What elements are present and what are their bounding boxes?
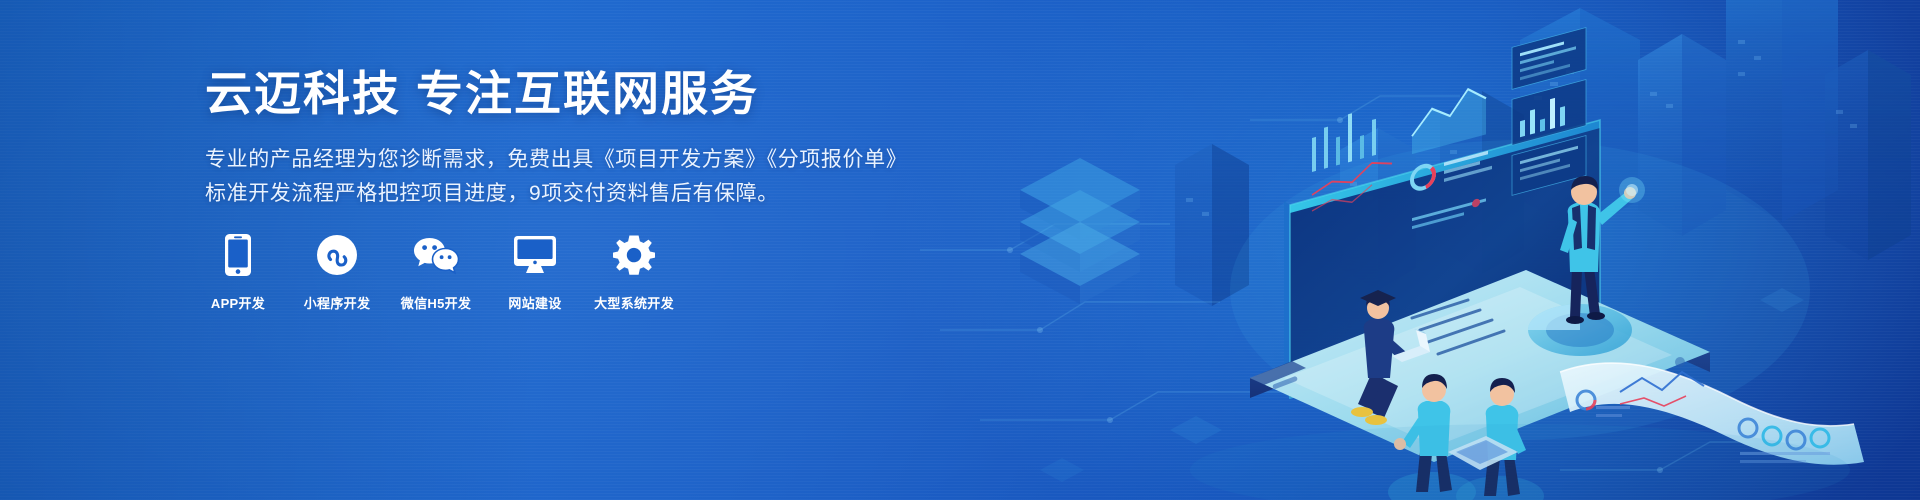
banner-copy: 云迈科技 专注互联网服务 专业的产品经理为您诊断需求，免费出具《项目开发方案》《… — [205, 68, 905, 211]
subtitle-line-1: 专业的产品经理为您诊断需求，免费出具《项目开发方案》《分项报价单》 — [205, 143, 905, 177]
service-item-large-system[interactable]: 大型系统开发 — [601, 232, 667, 312]
service-label: 小程序开发 — [304, 293, 371, 312]
service-label: 网站建设 — [508, 293, 561, 312]
service-label: 大型系统开发 — [594, 293, 674, 312]
banner-headline: 云迈科技 专注互联网服务 — [205, 68, 905, 121]
mobile-phone-icon — [224, 232, 252, 278]
monitor-icon — [513, 232, 557, 278]
service-label: APP开发 — [211, 293, 265, 312]
banner-subtitle: 专业的产品经理为您诊断需求，免费出具《项目开发方案》《分项报价单》 标准开发流程… — [205, 143, 905, 211]
mini-program-icon — [316, 232, 358, 278]
wechat-icon — [412, 232, 460, 278]
hero-banner: 云迈科技 专注互联网服务 专业的产品经理为您诊断需求，免费出具《项目开发方案》《… — [0, 0, 1920, 500]
subtitle-line-2: 标准开发流程严格把控项目进度，9项交付资料售后有保障。 — [205, 177, 905, 211]
service-item-wechat-h5[interactable]: 微信H5开发 — [403, 232, 469, 312]
service-label: 微信H5开发 — [401, 293, 471, 312]
gear-icon — [613, 232, 655, 278]
service-item-app[interactable]: APP开发 — [205, 232, 271, 312]
service-item-miniprogram[interactable]: 小程序开发 — [304, 232, 370, 312]
illustration-container — [920, 0, 1920, 500]
service-item-website[interactable]: 网站建设 — [502, 232, 568, 312]
service-list: APP开发 小程序开发 微信 — [205, 232, 667, 312]
server-stack — [1020, 158, 1140, 304]
